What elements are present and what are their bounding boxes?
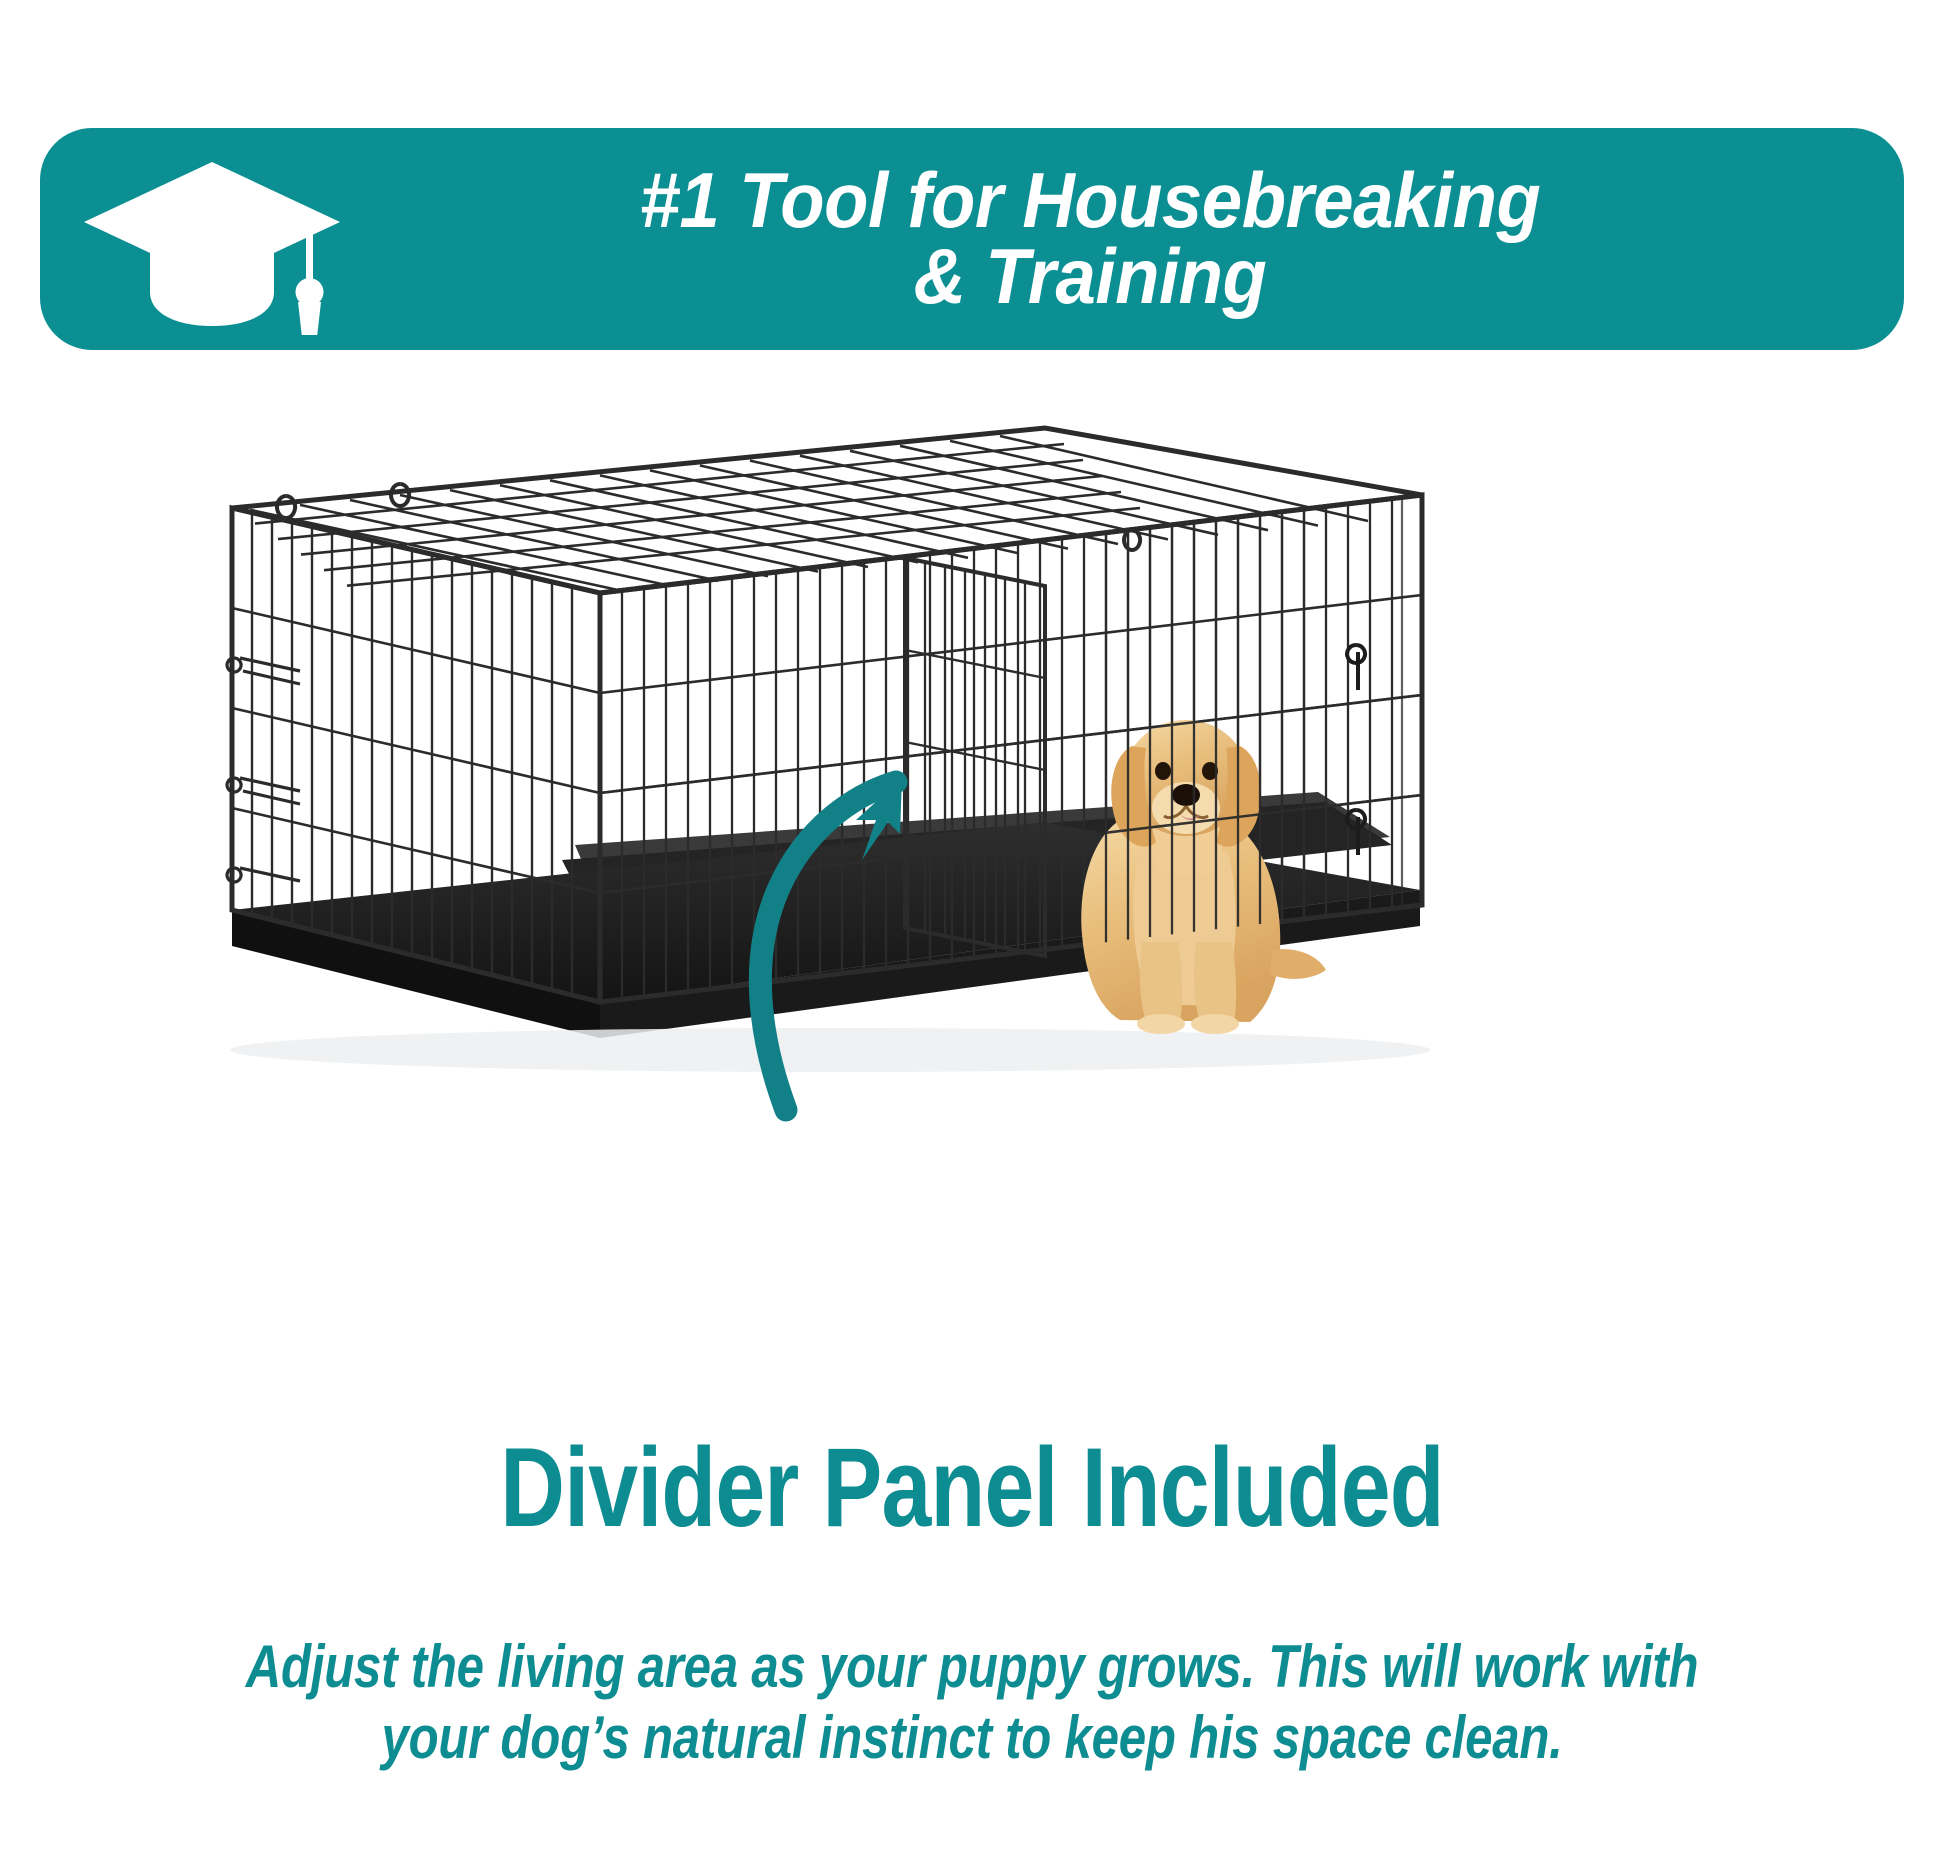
description-text: Adjust the living area as your puppy gro…	[175, 1632, 1769, 1774]
description-line1: Adjust the living area as your puppy gro…	[175, 1632, 1769, 1703]
divider-panel	[905, 558, 1045, 956]
graduation-cap-icon	[82, 150, 342, 335]
product-image	[0, 390, 1944, 1400]
page-title: Divider Panel Included	[194, 1432, 1749, 1544]
description-line2: your dog’s natural instinct to keep his …	[175, 1703, 1769, 1774]
banner-headline-line1: #1 Tool for Housebreaking	[640, 163, 1541, 239]
promo-banner: #1 Tool for Housebreaking & Training	[40, 128, 1904, 350]
banner-headline-line2: & Training	[914, 239, 1267, 315]
banner-headline: #1 Tool for Housebreaking & Training	[393, 128, 1788, 350]
dog-crate-illustration	[0, 390, 1944, 1400]
